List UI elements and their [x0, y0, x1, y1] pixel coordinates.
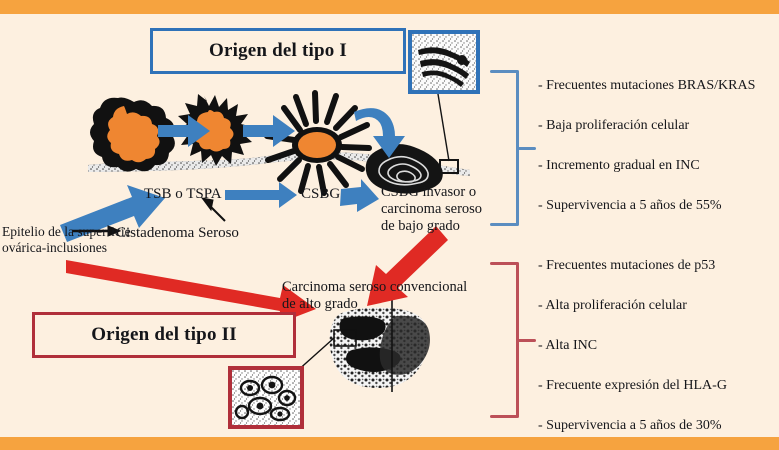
brace-bottom-arm: [490, 415, 518, 418]
type2-feature-list: - Frecuentes mutaciones de p53 - Alta pr…: [538, 258, 727, 450]
micrograph-inset-top: [408, 30, 480, 94]
micrograph-inset-bottom: [228, 366, 304, 429]
type1-title-box: Origen del tipo I: [150, 28, 406, 74]
brace-bottom-arm: [490, 223, 518, 226]
list-item: - Alta INC: [538, 338, 727, 354]
label-csbg: CSBG: [301, 186, 340, 203]
list-item: - Alta proliferación celular: [538, 298, 727, 314]
label-epithelium: Epitelio de la superficie ovárica-inclus…: [2, 224, 131, 255]
list-item: - Frecuente expresión del HLA-G: [538, 378, 727, 394]
list-item: - Frecuentes mutaciones BRAS/KRAS: [538, 78, 755, 94]
top-accent-bar: [0, 0, 779, 14]
list-item: - Supervivencia a 5 años de 30%: [538, 418, 727, 434]
invasive-carcinoma-icon: [366, 88, 458, 194]
blue-arrow-icon: [225, 182, 297, 208]
blue-arrow-icon: [340, 179, 379, 212]
brace-type2: [490, 262, 526, 418]
brace-type1: [490, 70, 526, 226]
high-grade-micrograph-icon: [296, 300, 430, 392]
type2-title-text: Origen del tipo II: [91, 324, 237, 346]
diagram-canvas: Origen del tipo I Origen del tipo II Epi…: [0, 0, 779, 450]
tumor-cell-cluster-icon: [90, 98, 175, 172]
blue-arrow-icon: [158, 115, 210, 147]
type2-title-box: Origen del tipo II: [32, 312, 296, 358]
label-tsb-tspa: TSB o TSPA: [144, 186, 222, 203]
tumor-cell-cluster-icon: [177, 94, 253, 166]
label-csbg-invasive: CSBG invasor o carcinoma seroso de bajo …: [381, 184, 482, 235]
label-conventional-carcinoma: Carcinoma seroso convencional de alto gr…: [282, 279, 467, 313]
list-item: - Supervivencia a 5 años de 55%: [538, 198, 755, 214]
brace-top-arm: [490, 262, 518, 265]
list-item: - Incremento gradual en INC: [538, 158, 755, 174]
label-cystadenoma: Cistadenoma Seroso: [116, 225, 239, 242]
brace-top-arm: [490, 70, 518, 73]
list-item: - Baja proliferación celular: [538, 118, 755, 134]
tumor-cell-cluster-icon: [267, 93, 369, 193]
brace-mid-arm: [518, 339, 536, 342]
blue-arrow-icon: [354, 108, 405, 158]
ovarian-surface-epithelium-icon: [88, 152, 470, 176]
brace-mid-arm: [518, 147, 536, 150]
blue-arrow-icon: [243, 115, 295, 147]
type1-title-text: Origen del tipo I: [209, 40, 347, 62]
type1-feature-list: - Frecuentes mutaciones BRAS/KRAS - Baja…: [538, 78, 755, 238]
list-item: - Frecuentes mutaciones de p53: [538, 258, 727, 274]
